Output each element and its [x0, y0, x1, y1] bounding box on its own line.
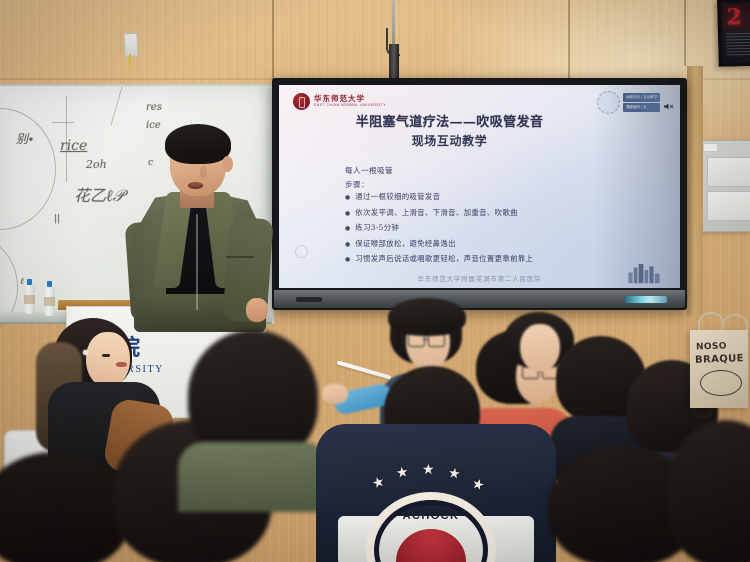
display-power-button[interactable]: [296, 297, 322, 302]
whiteboard-note-2oh: 2oh: [86, 158, 107, 171]
slide-title: 半阻塞气道疗法——吹吸管发音: [279, 111, 620, 130]
audience-mouth: [116, 362, 127, 367]
poster-text-lines: [726, 33, 750, 58]
slide-subtitle: 现场互动教学: [279, 132, 620, 149]
bullet-dot-icon: ●: [345, 240, 350, 249]
display-bezel-bottom: [274, 290, 685, 308]
whiteboard-sketch-line: [52, 122, 74, 123]
display-screen[interactable]: 华东师范大学 EAST CHINA NORMAL UNIVERSITY 远程会诊…: [279, 85, 680, 288]
bullet-text: 保证喉部放松，避免经鼻逸出: [355, 240, 456, 247]
slide-watermark-icon: [295, 245, 308, 258]
bullet-dot-icon: ●: [345, 255, 350, 264]
bullet-text: 习惯发声后说话或唱歌更轻松，声音位置更靠前靠上: [355, 255, 533, 262]
university-name-en: EAST CHINA NORMAL UNIVERSITY: [314, 104, 386, 107]
classroom-photo: 2 rice 2oh res ice c e 别∙ 花乙ℓ𝒫 ℓ𝒠 ||: [0, 0, 750, 562]
bag-text-line-1: NOSO: [696, 341, 727, 352]
whiteboard-note-rice: rice: [60, 138, 87, 154]
presenter-hair: [165, 124, 231, 164]
whiteboard-mark: ||: [54, 214, 60, 224]
earring: [83, 350, 88, 355]
star-icon: ★: [395, 463, 410, 482]
bag-text-line-2: BRAQUE: [695, 353, 744, 366]
audience-face: [86, 332, 130, 388]
presenter-zipper: [196, 214, 198, 310]
audience-member: [666, 420, 750, 562]
water-bottle: [44, 286, 55, 316]
audience-torso: [178, 442, 330, 512]
audience-member: [0, 452, 130, 562]
poster-number: 2: [726, 6, 742, 28]
university-logo: 华东师范大学 EAST CHINA NORMAL UNIVERSITY: [293, 93, 386, 110]
jacket-logo-text: ACHOCK: [352, 510, 510, 522]
panel-unit: [707, 191, 750, 221]
poster-artwork: 2: [722, 2, 750, 61]
whiteboard-mark: 别∙: [16, 130, 34, 147]
audience-member: [188, 330, 318, 500]
presenter: [130, 130, 270, 330]
audience-face: [520, 324, 560, 372]
audience-eye: [102, 354, 110, 357]
bullet-text: 练习3-5分钟: [355, 224, 399, 231]
wall-ac-panel: [700, 140, 750, 232]
whiteboard-note-res: res: [146, 102, 162, 113]
bullet-dot-icon: ●: [345, 209, 350, 218]
presenter-ear: [222, 156, 233, 172]
presenter-mouth: [188, 182, 203, 189]
panel-label-tag: [703, 143, 718, 152]
presenter-nose: [200, 166, 207, 178]
panel-seam: [684, 0, 686, 66]
audience-hand: [322, 384, 348, 404]
smart-display[interactable]: 华东师范大学 EAST CHINA NORMAL UNIVERSITY 远程会诊…: [272, 78, 687, 310]
presenter-jacket-pocket: [226, 256, 254, 258]
panel-seam: [272, 0, 274, 84]
wall-pillar: [687, 66, 703, 316]
university-seal-icon: [293, 93, 310, 110]
display-mount-bracket: [389, 44, 399, 82]
star-icon: ★: [370, 472, 387, 492]
bullet-text: 依次发平调、上滑音、下滑音、加重音、吹歌曲: [355, 209, 518, 216]
wall-device-cord: [129, 54, 131, 66]
presenter-hand: [246, 298, 268, 322]
display-indicator-strip: [625, 296, 667, 303]
bag-illustration: [700, 370, 742, 396]
star-icon: ★: [470, 474, 487, 494]
panel-seam: [568, 0, 570, 78]
panel-unit: [707, 157, 750, 187]
audience-hair-top: [388, 298, 466, 336]
university-name-cn: 华东师范大学: [314, 95, 386, 103]
jacket-logo: ACHOCK ★ ★ ★ ★ ★: [352, 470, 510, 548]
paper-shopping-bag: NOSO BRAQUE: [690, 330, 748, 408]
whiteboard-mark: 花乙ℓ𝒫: [74, 182, 124, 206]
water-bottle: [24, 284, 35, 314]
star-icon: ★: [422, 461, 435, 478]
framed-poster: 2: [717, 0, 750, 67]
presentation-slide: 华东师范大学 EAST CHINA NORMAL UNIVERSITY 远程会诊…: [279, 85, 680, 288]
audience-hair: [0, 452, 130, 562]
slide-edge-shadow: [594, 85, 680, 288]
bullet-text: 通过一根较细的吸管发音: [355, 193, 440, 200]
bullet-dot-icon: ●: [345, 193, 350, 202]
wall-device: [123, 33, 138, 58]
bullet-dot-icon: ●: [345, 224, 350, 233]
audience-hair: [666, 420, 750, 562]
star-icon: ★: [447, 464, 462, 483]
